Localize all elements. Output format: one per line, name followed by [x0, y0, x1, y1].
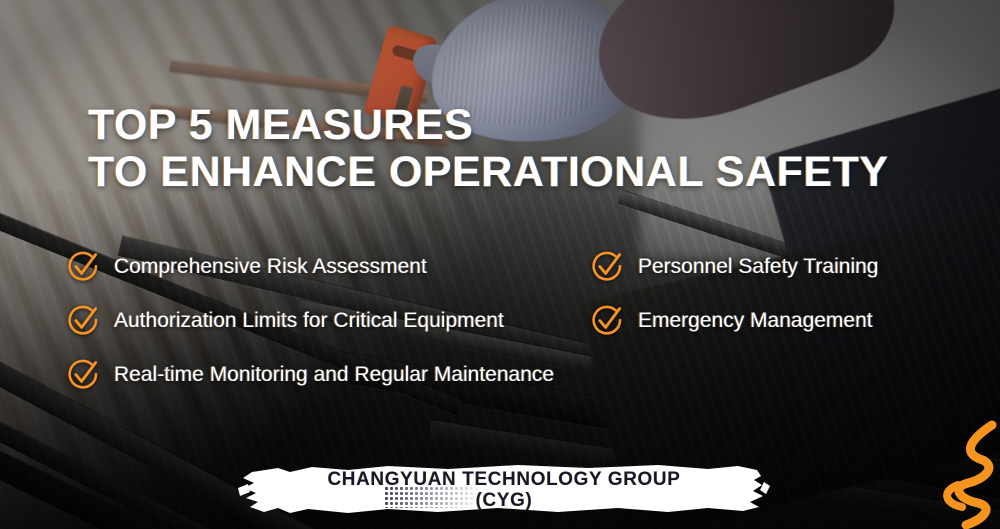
- safety-poster: TOP 5 MEASURES TO ENHANCE OPERATIONAL SA…: [0, 0, 1000, 529]
- check-circle-icon: [66, 250, 100, 284]
- list-item-label: Personnel Safety Training: [638, 255, 878, 279]
- list-item: Emergency Management: [590, 294, 990, 348]
- orange-scribble-decoration: [928, 419, 1000, 529]
- checklist-column-right: Personnel Safety Training Emergency Mana…: [590, 240, 990, 348]
- list-item-label: Comprehensive Risk Assessment: [114, 255, 427, 279]
- poster-content: TOP 5 MEASURES TO ENHANCE OPERATIONAL SA…: [0, 0, 1000, 529]
- company-name-line-1: CHANGYUAN TECHNOLOGY GROUP: [327, 469, 680, 490]
- check-circle-icon: [66, 358, 100, 392]
- list-item: Real-time Monitoring and Regular Mainten…: [66, 348, 626, 402]
- company-banner: CHANGYUAN TECHNOLOGY GROUP (CYG): [238, 458, 770, 520]
- list-item-label: Emergency Management: [638, 309, 873, 333]
- list-item-label: Real-time Monitoring and Regular Mainten…: [114, 363, 554, 387]
- list-item: Comprehensive Risk Assessment: [66, 240, 626, 294]
- company-name: CHANGYUAN TECHNOLOGY GROUP (CYG): [238, 458, 770, 520]
- check-circle-icon: [66, 304, 100, 338]
- page-title: TOP 5 MEASURES TO ENHANCE OPERATIONAL SA…: [88, 103, 889, 195]
- list-item: Authorization Limits for Critical Equipm…: [66, 294, 626, 348]
- checklist-column-left: Comprehensive Risk Assessment Authorizat…: [66, 240, 626, 402]
- page-title-line-2: TO ENHANCE OPERATIONAL SAFETY: [88, 150, 889, 195]
- list-item-label: Authorization Limits for Critical Equipm…: [114, 309, 504, 333]
- check-circle-icon: [590, 304, 624, 338]
- check-circle-icon: [590, 250, 624, 284]
- list-item: Personnel Safety Training: [590, 240, 990, 294]
- page-title-line-1: TOP 5 MEASURES: [88, 103, 889, 148]
- company-name-line-2: (CYG): [476, 490, 533, 511]
